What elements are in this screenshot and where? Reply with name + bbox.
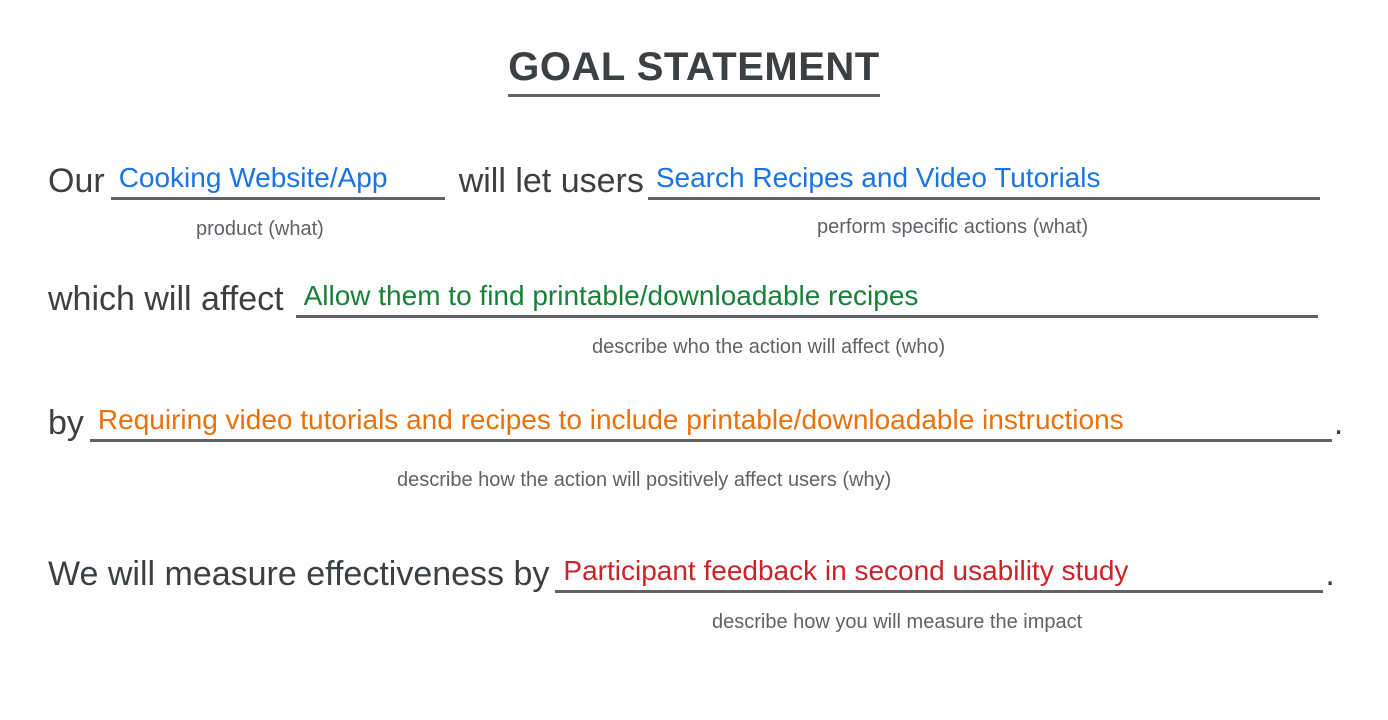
statement-row-4: We will measure effectiveness by Partici…: [48, 556, 1335, 593]
page-title-container: GOAL STATEMENT: [0, 46, 1388, 97]
row1-fill-actions: Search Recipes and Video Tutorials: [656, 163, 1314, 192]
row1-fill-product: Cooking Website/App: [119, 163, 439, 192]
row1-mid-label: will let users: [445, 164, 648, 200]
row2-blank-who[interactable]: Allow them to find printable/downloadabl…: [296, 281, 1318, 318]
row2-lead-label: which will affect: [48, 282, 296, 318]
row3-lead-label: by: [48, 406, 90, 442]
row1-blank-actions[interactable]: Search Recipes and Video Tutorials: [648, 163, 1320, 200]
row1-caption-product: product (what): [196, 219, 324, 239]
row1-lead-label: Our: [48, 164, 111, 200]
row3-caption-why: describe how the action will positively …: [397, 470, 891, 490]
row3-period: .: [1332, 406, 1343, 442]
row3-blank-why[interactable]: Requiring video tutorials and recipes to…: [90, 405, 1332, 442]
page-title: GOAL STATEMENT: [508, 46, 879, 97]
row4-blank-measure[interactable]: Participant feedback in second usability…: [555, 556, 1323, 593]
statement-row-1: Our Cooking Website/App will let users S…: [48, 163, 1320, 200]
row4-lead-label: We will measure effectiveness by: [48, 557, 555, 593]
statement-row-3: by Requiring video tutorials and recipes…: [48, 405, 1343, 442]
row1-caption-actions: perform specific actions (what): [817, 217, 1088, 237]
row4-period: .: [1323, 557, 1334, 593]
row2-caption-who: describe who the action will affect (who…: [592, 337, 945, 357]
statement-row-2: which will affect Allow them to find pri…: [48, 281, 1318, 318]
row2-fill-who: Allow them to find printable/downloadabl…: [304, 281, 1312, 310]
row3-fill-why: Requiring video tutorials and recipes to…: [98, 405, 1326, 434]
row1-blank-product[interactable]: Cooking Website/App: [111, 163, 445, 200]
row4-caption-measure: describe how you will measure the impact: [712, 612, 1082, 632]
row4-fill-measure: Participant feedback in second usability…: [563, 556, 1317, 585]
